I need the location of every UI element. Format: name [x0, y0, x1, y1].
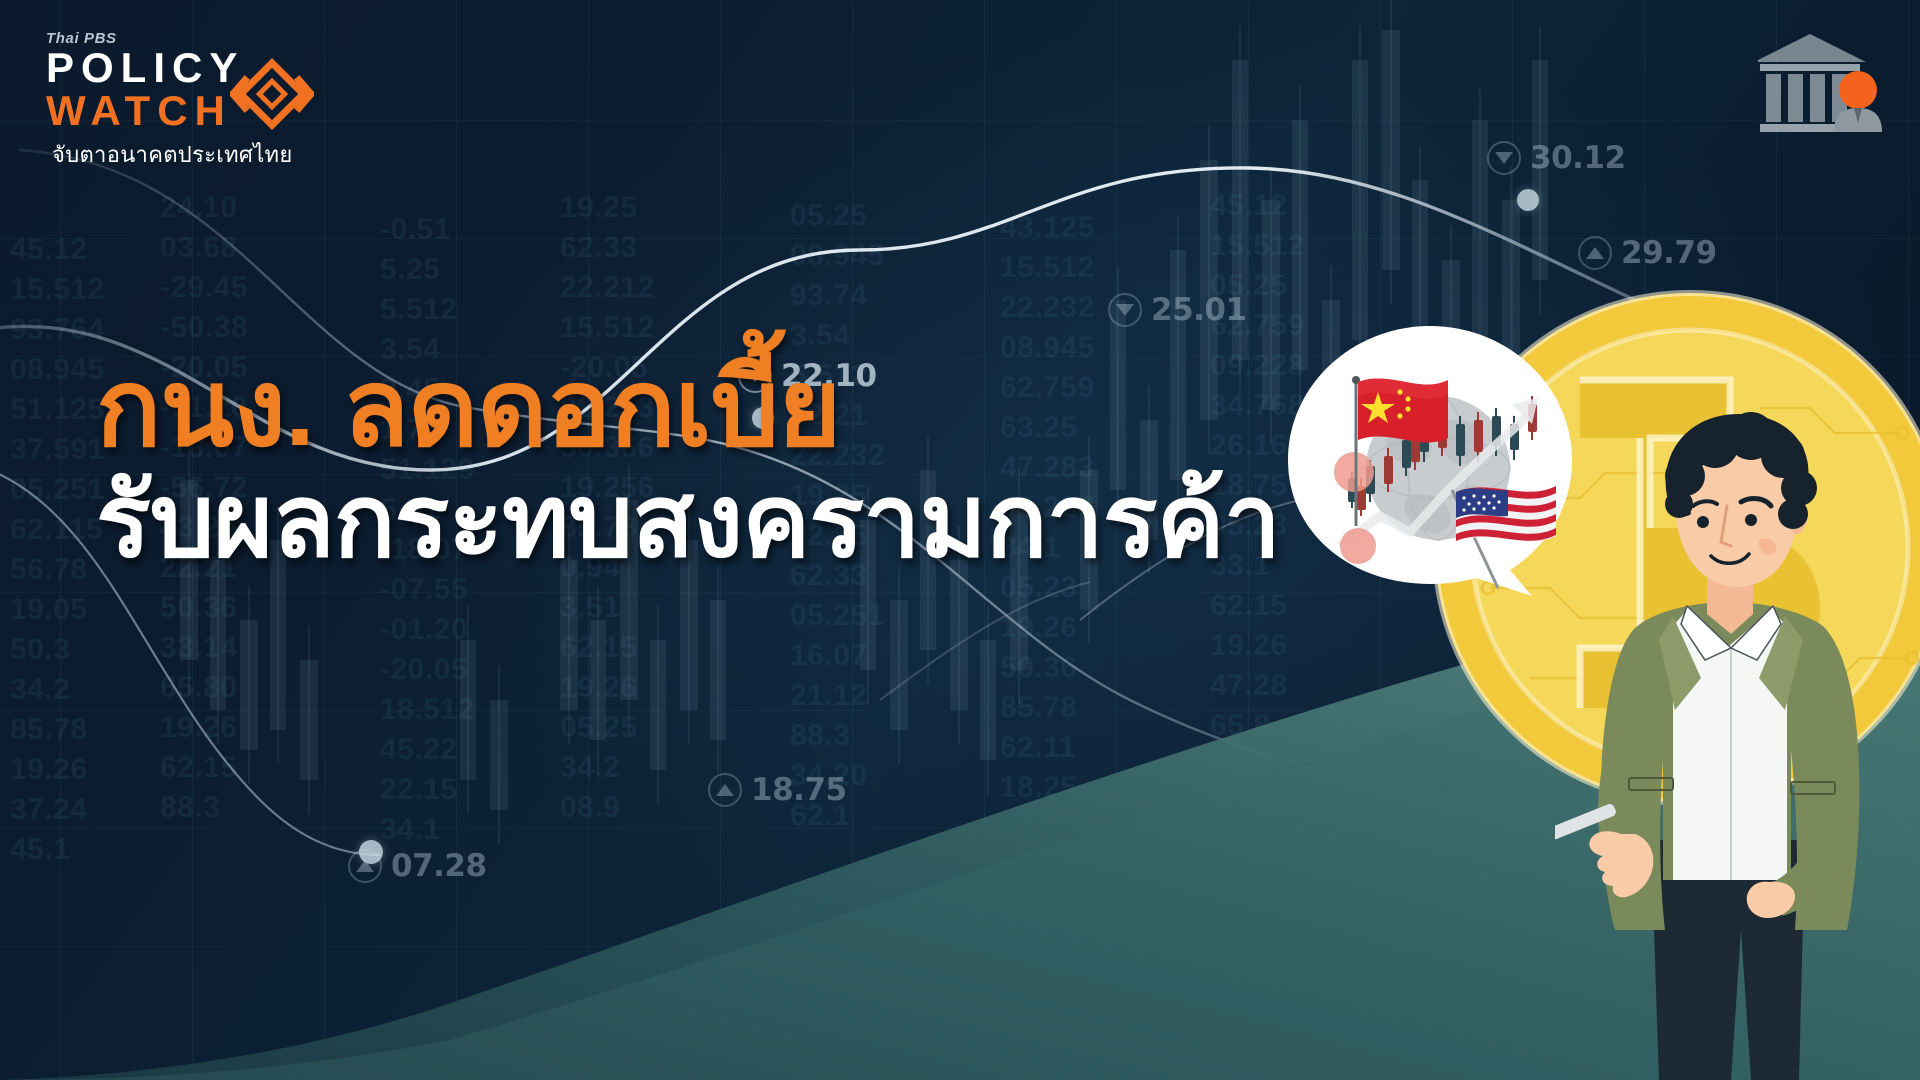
logo-tagline: จับตาอนาคตประเทศไทย	[52, 137, 320, 172]
news-graphic-canvas: 45.12 15.512 93.764 08.945 51.125 37.591…	[0, 0, 1920, 1080]
policy-watch-logo[interactable]: Thai PBS POLICY WATCH จับตาอนาคตประเทศไท…	[30, 30, 320, 172]
headline-block: กนง. ลดดอกเบี้ย รับผลกระทบสงครามการค้า	[96, 352, 1276, 576]
diamond-logo-icon	[230, 52, 314, 136]
headline-line-1: กนง. ลดดอกเบี้ย	[96, 352, 1276, 464]
presenter-character-icon	[1555, 410, 1920, 1080]
logo-watch-text: WATCH	[46, 89, 232, 133]
logo-policy-text: POLICY	[46, 47, 244, 89]
headline-line-2: รับผลกระทบสงครามการค้า	[96, 466, 1276, 576]
speech-bubble-icon	[1280, 320, 1580, 600]
bank-building-icon	[1758, 28, 1888, 132]
